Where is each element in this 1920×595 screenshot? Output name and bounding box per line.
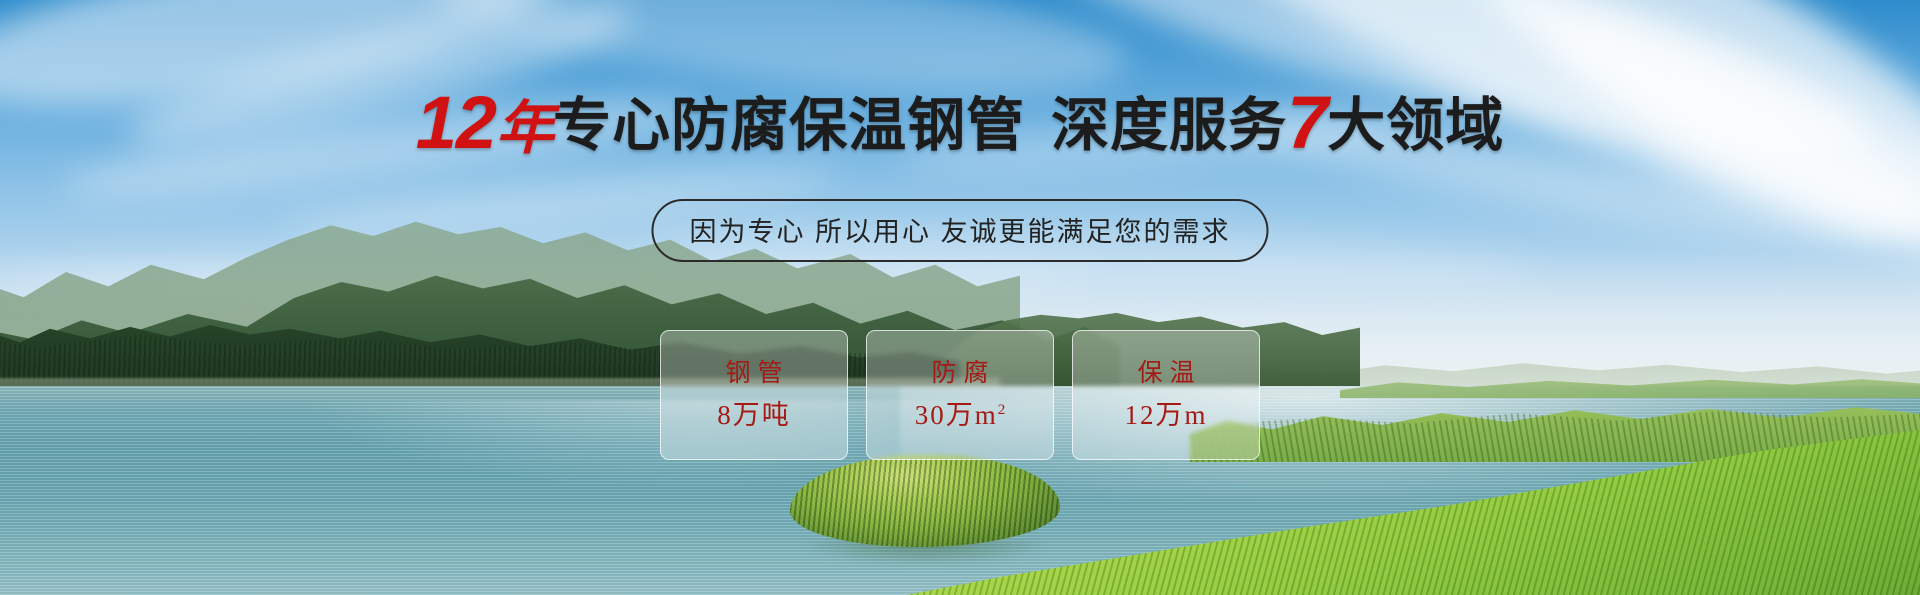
stat-card[interactable]: 保温 12万m bbox=[1072, 330, 1260, 460]
stat-card-value-text: 30万m bbox=[915, 400, 998, 430]
stat-card-row: 钢管 8万吨 防腐 30万m2 保温 12万m bbox=[660, 330, 1260, 460]
stat-card-label: 保温 bbox=[1130, 361, 1201, 386]
stat-card-value: 30万m2 bbox=[915, 402, 1006, 429]
banner-headline: 12年专心防腐保温钢管深度服务7大领域 bbox=[0, 86, 1920, 160]
stat-card-value-text: 8万吨 bbox=[717, 400, 791, 430]
stat-card-value: 12万m bbox=[1124, 402, 1207, 429]
stat-card-label: 防腐 bbox=[924, 361, 995, 386]
stat-card-value-superscript: 2 bbox=[998, 402, 1006, 418]
headline-years-number: 12 bbox=[416, 81, 496, 164]
headline-part-a: 专心防腐保温钢管 bbox=[553, 93, 1025, 158]
headline-part-c: 大领域 bbox=[1327, 93, 1504, 158]
headline-years-unit: 年 bbox=[496, 96, 553, 161]
hero-banner: 12年专心防腐保温钢管深度服务7大领域 因为专心 所以用心 友诚更能满足您的需求… bbox=[0, 0, 1920, 595]
stat-card[interactable]: 钢管 8万吨 bbox=[660, 330, 848, 460]
stat-card-label: 钢管 bbox=[718, 361, 789, 386]
stat-card[interactable]: 防腐 30万m2 bbox=[866, 330, 1054, 460]
headline-fields-number: 7 bbox=[1287, 81, 1327, 164]
headline-part-b: 深度服务 bbox=[1051, 93, 1287, 158]
banner-subtitle-pill: 因为专心 所以用心 友诚更能满足您的需求 bbox=[651, 199, 1268, 262]
stat-card-value: 8万吨 bbox=[717, 402, 791, 429]
stat-card-value-text: 12万m bbox=[1124, 400, 1207, 430]
